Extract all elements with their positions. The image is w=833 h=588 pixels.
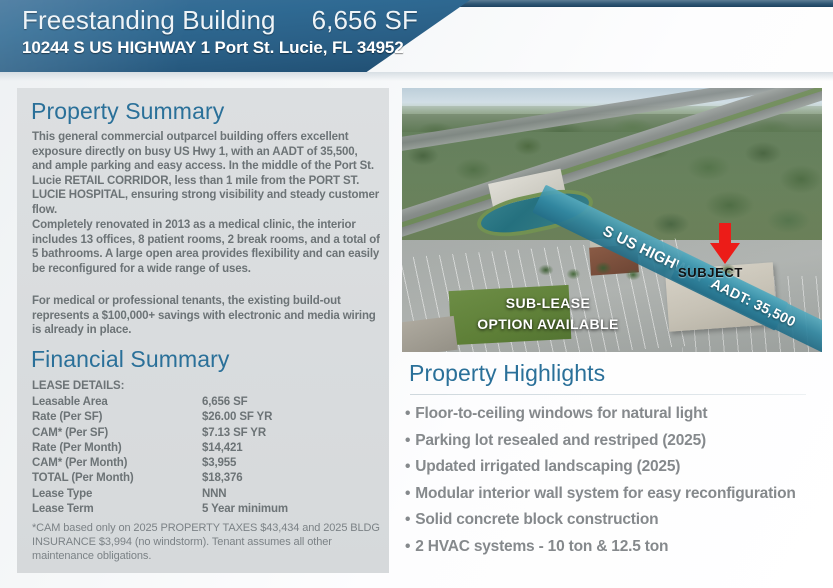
lease-detail-row: TOTAL (Per Month)$18,376 bbox=[32, 472, 372, 487]
arrow-shaft bbox=[719, 223, 731, 245]
property-summary-heading: Property Summary bbox=[31, 98, 224, 125]
lease-details-table: Leasable Area6,656 SFRate (Per SF)$26.00… bbox=[32, 396, 372, 518]
lease-detail-label: Leasable Area bbox=[32, 396, 180, 411]
lease-detail-row: Rate (Per Month)$14,421 bbox=[32, 442, 372, 457]
building-size-label: 6,656 SF bbox=[276, 5, 418, 35]
lease-detail-label: CAM* (Per Month) bbox=[32, 457, 180, 472]
property-address: 10244 S US HIGHWAY 1 Port St. Lucie, FL … bbox=[22, 38, 404, 58]
property-highlights-heading: Property Highlights bbox=[409, 360, 605, 387]
highlight-item: •Floor-to-ceiling windows for natural li… bbox=[405, 401, 825, 428]
property-summary-paragraph-1: This general commercial outparcel buildi… bbox=[32, 130, 380, 218]
lease-detail-label: Lease Term bbox=[32, 503, 180, 518]
financial-summary-heading: Financial Summary bbox=[31, 346, 230, 373]
lease-detail-value: 6,656 SF bbox=[180, 396, 372, 411]
bullet-icon: • bbox=[405, 432, 415, 449]
cam-footnote: *CAM based only on 2025 PROPERTY TAXES $… bbox=[32, 521, 382, 563]
highlight-item-text: Modular interior wall system for easy re… bbox=[415, 485, 795, 502]
highlights-divider bbox=[410, 394, 806, 395]
lease-detail-row: Rate (Per SF)$26.00 SF YR bbox=[32, 411, 372, 426]
lease-detail-label: Rate (Per Month) bbox=[32, 442, 180, 457]
page-title: Freestanding Building6,656 SF bbox=[22, 5, 418, 36]
lease-detail-row: Lease Term5 Year minimum bbox=[32, 503, 372, 518]
property-summary-paragraph-3: For medical or professional tenants, the… bbox=[32, 294, 380, 338]
arrow-head bbox=[710, 243, 740, 264]
aerial-photo: S US HIGHWAY 1 AADT: 35,500 SUBJECT SUB-… bbox=[402, 88, 822, 352]
highlight-item: •Solid concrete block construction bbox=[405, 507, 825, 534]
lease-detail-label: TOTAL (Per Month) bbox=[32, 472, 180, 487]
lease-detail-row: Lease TypeNNN bbox=[32, 488, 372, 503]
left-info-panel: Property Summary This general commercial… bbox=[17, 88, 389, 573]
lease-detail-value: 5 Year minimum bbox=[180, 503, 372, 518]
subject-building-label: SUBJECT bbox=[678, 265, 743, 280]
property-highlights-list: •Floor-to-ceiling windows for natural li… bbox=[405, 401, 825, 560]
lease-detail-value: NNN bbox=[180, 488, 372, 503]
highlight-item-text: Updated irrigated landscaping (2025) bbox=[415, 458, 680, 475]
highlight-item: •Modular interior wall system for easy r… bbox=[405, 481, 825, 508]
sublease-line-1: SUB-LEASE bbox=[448, 293, 648, 314]
header-drop-shadow bbox=[0, 72, 833, 81]
lease-detail-label: CAM* (Per SF) bbox=[32, 427, 180, 442]
bullet-icon: • bbox=[405, 538, 415, 555]
bullet-icon: • bbox=[405, 511, 415, 528]
lease-detail-value: $14,421 bbox=[180, 442, 372, 457]
lease-detail-value: $7.13 SF YR bbox=[180, 427, 372, 442]
highlight-item: •Updated irrigated landscaping (2025) bbox=[405, 454, 825, 481]
bullet-icon: • bbox=[405, 405, 415, 422]
sublease-callout: SUB-LEASE OPTION AVAILABLE bbox=[448, 293, 648, 335]
highlight-item-text: 2 HVAC systems - 10 ton & 12.5 ton bbox=[415, 538, 668, 555]
highlight-item: •2 HVAC systems - 10 ton & 12.5 ton bbox=[405, 534, 825, 561]
lease-detail-value: $3,955 bbox=[180, 457, 372, 472]
sublease-line-2: OPTION AVAILABLE bbox=[448, 314, 648, 335]
highlight-item-text: Parking lot resealed and restriped (2025… bbox=[415, 432, 706, 449]
highlight-item-text: Floor-to-ceiling windows for natural lig… bbox=[415, 405, 707, 422]
property-summary-paragraph-2: Completely renovated in 2013 as a medica… bbox=[32, 218, 380, 276]
lease-detail-value: $18,376 bbox=[180, 472, 372, 487]
lease-detail-row: CAM* (Per Month)$3,955 bbox=[32, 457, 372, 472]
page-header: Freestanding Building6,656 SF 10244 S US… bbox=[0, 0, 833, 80]
bullet-icon: • bbox=[405, 458, 415, 475]
lease-details-label: LEASE DETAILS: bbox=[32, 380, 124, 392]
lease-detail-label: Rate (Per SF) bbox=[32, 411, 180, 426]
highlight-item: •Parking lot resealed and restriped (202… bbox=[405, 428, 825, 455]
lease-detail-value: $26.00 SF YR bbox=[180, 411, 372, 426]
highlight-item-text: Solid concrete block construction bbox=[415, 511, 658, 528]
bullet-icon: • bbox=[405, 485, 415, 502]
subject-pointer-arrow-icon bbox=[710, 223, 740, 263]
lease-detail-row: Leasable Area6,656 SF bbox=[32, 396, 372, 411]
lease-detail-label: Lease Type bbox=[32, 488, 180, 503]
building-type-label: Freestanding Building bbox=[22, 5, 276, 35]
lease-detail-row: CAM* (Per SF)$7.13 SF YR bbox=[32, 427, 372, 442]
